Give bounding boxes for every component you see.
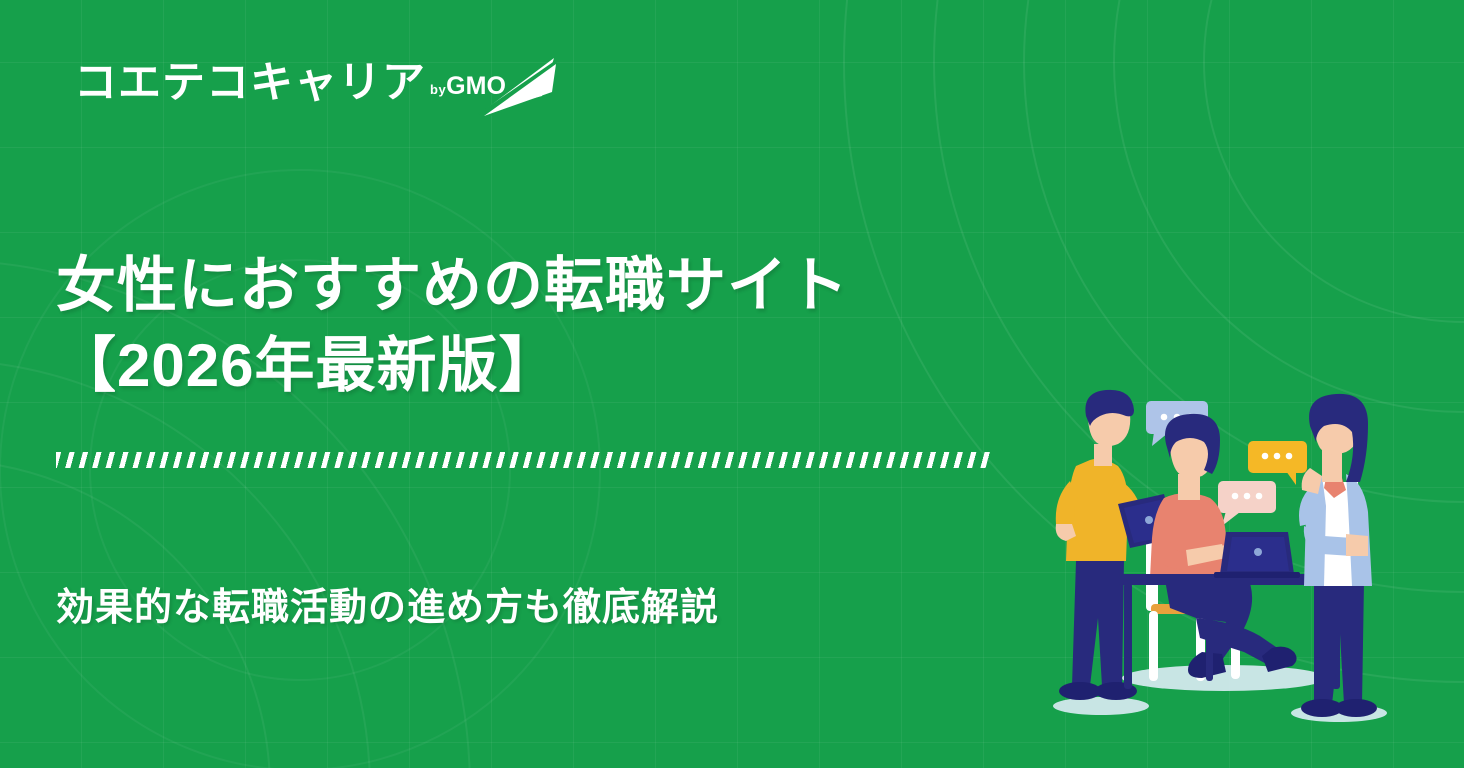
logo-brand-text: コエテコキャリア: [74, 62, 426, 105]
bubble-yellow: [1248, 441, 1307, 485]
desk-laptop: [1214, 532, 1300, 578]
team-meeting-illustration: [1046, 386, 1396, 734]
page-title: 女性におすすめの転職サイト 【2026年最新版】: [56, 246, 849, 406]
bubble-pink: [1218, 481, 1276, 526]
rising-arrow-icon: [472, 56, 568, 130]
logo-by-prefix: by: [430, 82, 446, 97]
page-subtitle: 効果的な転職活動の進め方も徹底解説: [56, 586, 719, 632]
article-thumbnail-banner: コエテコキャリア byGMO 女性におすすめの転職サイト 【2026年最新版】 …: [0, 0, 1464, 768]
site-logo[interactable]: コエテコキャリア byGMO: [74, 62, 506, 105]
divider-stripe: [56, 452, 994, 468]
